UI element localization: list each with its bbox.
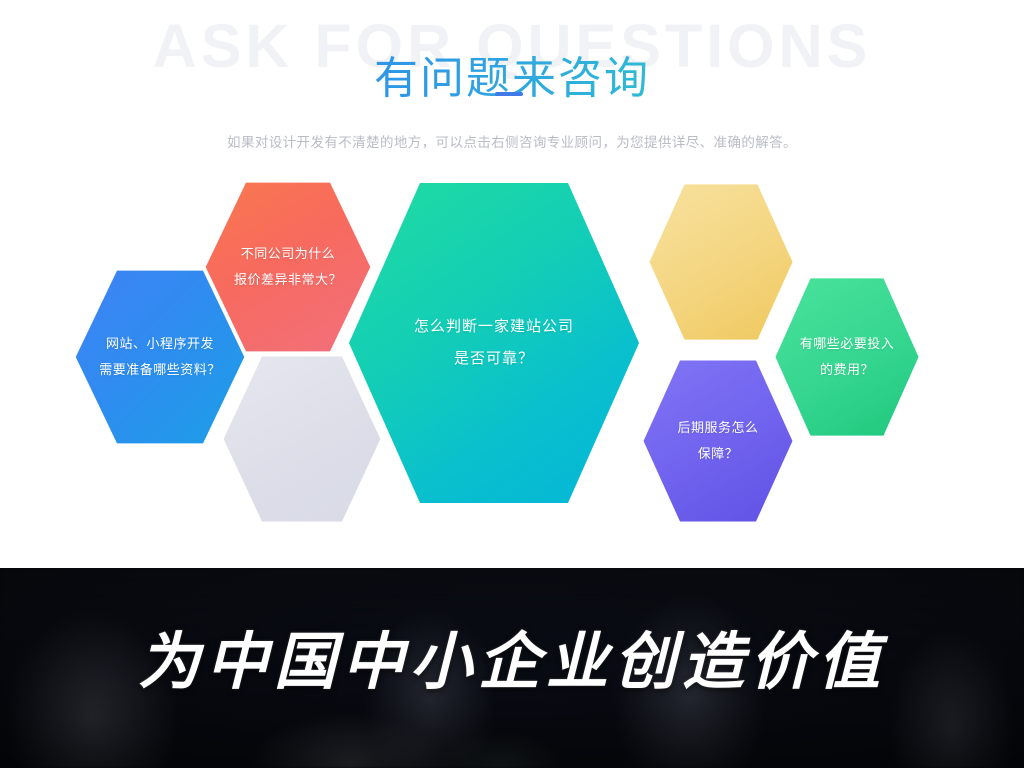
page-title: 有问题来咨询: [0, 51, 1024, 107]
hexagon-label: 怎么判断一家建站公司 是否可靠？: [408, 311, 580, 375]
hexagon-label: 不同公司为什么 报价差异非常大？: [228, 241, 348, 293]
hexagon-necessary-cost[interactable]: 有哪些必要投入 的费用？: [774, 276, 920, 438]
hexagon-decor-gray: [222, 354, 382, 524]
hexagon-judge-reliable[interactable]: 怎么判断一家建站公司 是否可靠？: [346, 178, 642, 508]
hexagon-after-sales[interactable]: 后期服务怎么 保障？: [642, 358, 794, 524]
hexagon-label: 网站、小程序开发 需要准备哪些资料？: [93, 331, 227, 383]
title-underline: [495, 92, 523, 96]
banner-slogan: 为中国中小企业创造价值: [0, 620, 1024, 704]
header-section: ASK FOR QUESTIONS 有问题来咨询 如果对设计开发有不清楚的地方，…: [0, 0, 1024, 160]
bottom-banner: 为中国中小企业创造价值: [0, 568, 1024, 768]
hexagon-label: 后期服务怎么 保障？: [671, 415, 764, 467]
hexagon-label: 有哪些必要投入 的费用？: [794, 331, 901, 383]
page-subtitle: 如果对设计开发有不清楚的地方，可以点击右侧咨询专业顾问，为您提供详尽、准确的解答…: [0, 132, 1024, 154]
page-root: ASK FOR QUESTIONS 有问题来咨询 如果对设计开发有不清楚的地方，…: [0, 0, 1024, 768]
hexagon-decor-yellow: [648, 182, 794, 342]
hexagon-cluster: 网站、小程序开发 需要准备哪些资料？ 不同公司为什么 报价差异非常大？ 怎么判断…: [0, 160, 1024, 560]
